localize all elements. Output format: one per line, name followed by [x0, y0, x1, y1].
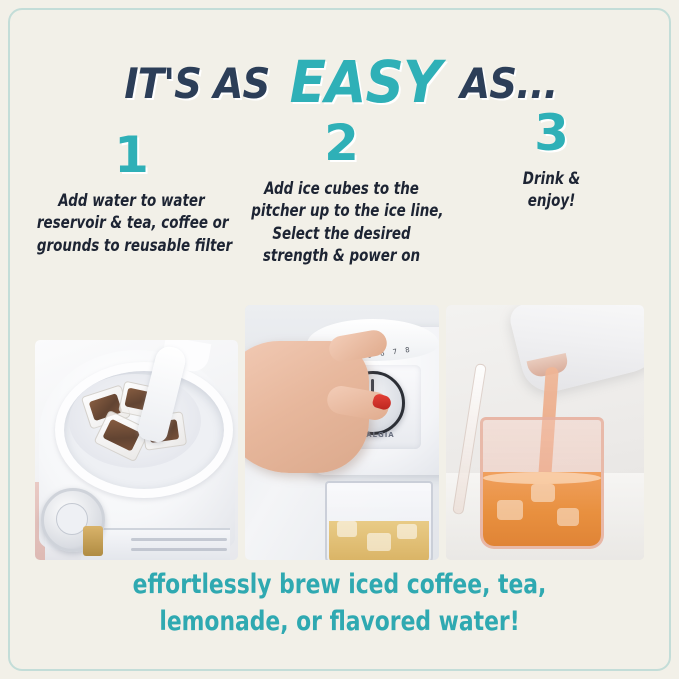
step-1-line-1: Add water to water [37, 190, 226, 212]
step-2-text: Add ice cubes to the pitcher up to the i… [251, 178, 431, 268]
photo-1-gold-accent [83, 526, 103, 556]
step-2-line-2: pitcher up to the ice line, [251, 200, 431, 222]
photo-pouring-iced-drink-into-glass [446, 305, 644, 560]
step-2-number: 2 [239, 118, 444, 168]
step-1-number: 1 [24, 130, 239, 180]
step-3-line-1: Drink & [457, 168, 646, 190]
step-3-line-2: enjoy! [457, 190, 646, 212]
headline-part-two: AS... [460, 59, 557, 108]
step-1: 1 Add water to water reservoir & tea, co… [24, 130, 239, 257]
tagline: effortlessly brew iced coffee, tea, lemo… [0, 566, 679, 641]
photo-2-ice-cube [337, 521, 357, 537]
tagline-line-1: effortlessly brew iced coffee, tea, [34, 566, 645, 603]
infographic-page: IT'S AS EASY AS... 1 Add water to water … [0, 0, 679, 679]
step-3: 3 Drink & enjoy! [444, 108, 659, 213]
headline-accent-word: EASY [290, 48, 441, 116]
photo-hand-turning-strength-dial: 2 3 4 5 6 7 8 NOSTALGIA [245, 305, 439, 560]
photo-3-ice-cube [557, 508, 579, 526]
step-2-line-1: Add ice cubes to the [251, 178, 431, 200]
photo-2-ice-cube [367, 533, 391, 551]
photo-1-reusable-filter-basket [69, 374, 201, 468]
photo-3-drinking-glass [480, 417, 604, 549]
step-2-line-4: strength & power on [251, 245, 431, 267]
headline: IT'S AS EASY AS... [0, 44, 679, 112]
step-1-line-2: reservoir & tea, coffee or [37, 212, 226, 234]
photo-2-pitcher [325, 481, 433, 560]
step-1-text: Add water to water reservoir & tea, coff… [37, 190, 226, 257]
tagline-line-2: lemonade, or flavored water! [34, 603, 645, 640]
step-3-text: Drink & enjoy! [457, 168, 646, 213]
photo-filter-basket-with-tea-bags [35, 340, 238, 560]
photo-3-ice-cube [531, 484, 555, 502]
photo-3-surface-foam [483, 472, 601, 484]
photo-3-ice-cube [497, 500, 523, 520]
step-2-line-3: Select the desired [251, 223, 431, 245]
photo-2-ice-cube [397, 524, 417, 539]
step-2: 2 Add ice cubes to the pitcher up to the… [239, 118, 444, 268]
photo-1-pitcher-line [131, 538, 227, 541]
headline-part-one: IT'S AS [124, 59, 269, 108]
photo-1-pitcher-line [131, 548, 227, 551]
step-1-line-3: grounds to reusable filter [37, 235, 226, 257]
step-3-number: 3 [444, 108, 659, 158]
